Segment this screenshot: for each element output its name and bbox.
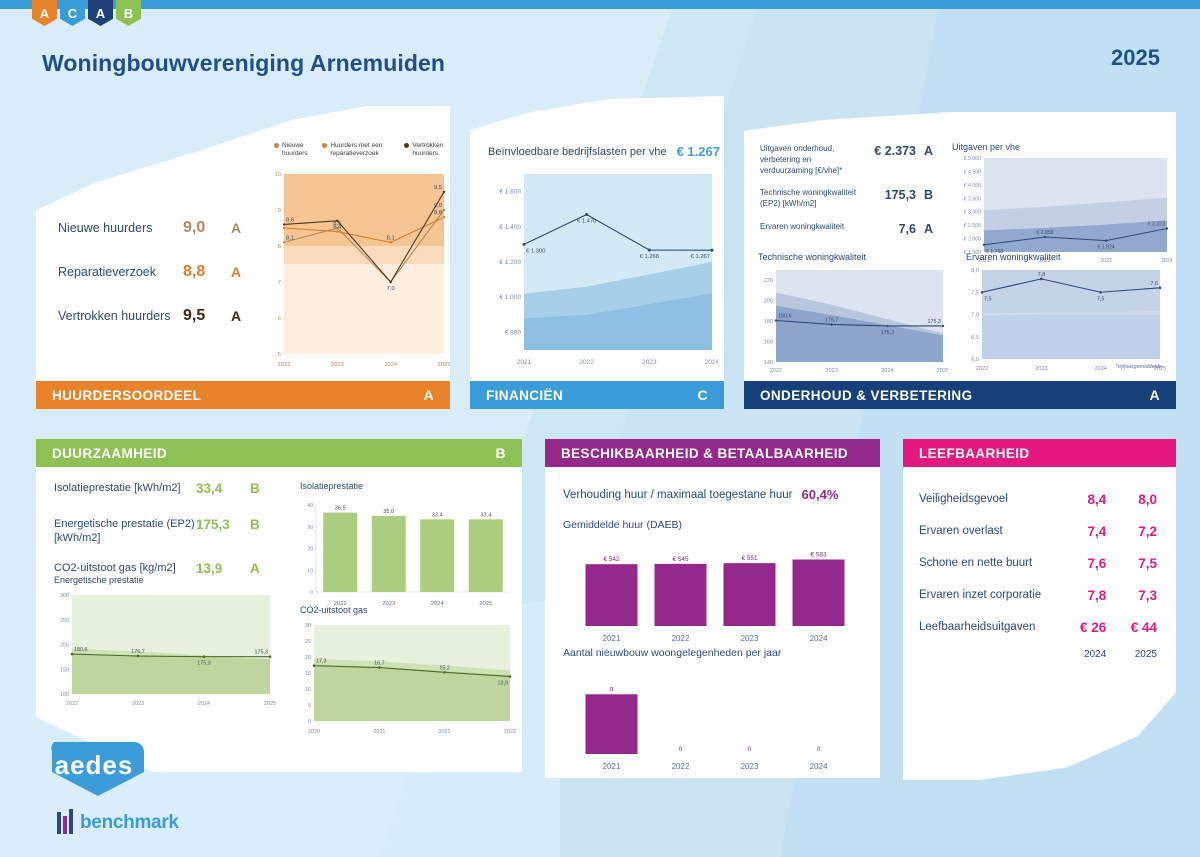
svg-text:2022: 2022 [278,362,291,368]
svg-text:2024: 2024 [431,601,445,607]
svg-text:7,8: 7,8 [1038,272,1046,278]
top-accent-bar [0,0,1200,9]
column-header: 2024 [1056,649,1107,660]
row-label: Ervaren inzet corporatie [919,589,1056,601]
svg-text:8,6: 8,6 [286,217,294,223]
panel-leefbaarheid: Veiligheidsgevoel8,48,0Ervaren overlast7… [903,467,1176,780]
row-label: Schone en nette buurt [919,557,1056,569]
svg-text:100: 100 [60,692,69,698]
svg-text:2021: 2021 [517,359,532,366]
svg-text:2023: 2023 [331,362,344,368]
header-label: LEEFBAARHEID [919,446,1030,461]
svg-text:0: 0 [679,746,683,753]
svg-text:7,5: 7,5 [1097,296,1105,302]
svg-text:0: 0 [310,590,313,596]
svg-text:2022: 2022 [672,634,690,643]
svg-text:180,6: 180,6 [74,647,88,653]
svg-text:2022: 2022 [770,368,782,374]
metric-value: € 2.373 [864,144,916,158]
metric-value: € 1.267 [677,144,720,159]
svg-text:€ 2.058: € 2.058 [1036,230,1053,236]
chart-technische-woningkwaliteit: 1401601802002202022202320242025180,6176,… [752,264,948,374]
metric-row: Vertrokken huurders 9,5 A [58,294,273,338]
panel-onderhoud: Uitgaven onderhoud, verbetering en verdu… [744,112,1176,381]
svg-text:€ 3.500: € 3.500 [964,196,981,202]
svg-text:2021: 2021 [603,634,621,643]
svg-text:€ 1.300: € 1.300 [526,248,545,254]
svg-text:2024: 2024 [705,359,718,366]
svg-text:10: 10 [305,687,311,693]
metric-grade: B [250,481,260,496]
svg-text:8,8: 8,8 [434,210,442,216]
svg-text:7,5: 7,5 [984,296,992,302]
header-leefbaarheid: LEEFBAARHEID [903,439,1176,467]
metric-row: Reparatieverzoek 8,8 A [58,250,273,294]
svg-text:13,9: 13,9 [498,681,509,687]
column-header: 2025 [1106,649,1157,660]
svg-text:176,7: 176,7 [131,649,145,655]
header-beschikbaarheid: BESCHIKBAARHEID & BETAALBAARHEID [545,439,880,467]
footnote: *vijfjaargemiddelde [1116,364,1162,370]
svg-text:25: 25 [305,639,311,645]
header-label: ONDERHOUD & VERBETERING [760,388,972,403]
benchmark-label: benchmark [80,812,179,834]
svg-text:2024: 2024 [881,368,893,374]
metric-label: CO2-uitstoot gas [kg/m2] [54,561,196,575]
metric-value: 8,8 [183,263,231,281]
aedes-logo: aedes [40,738,148,805]
svg-text:30: 30 [307,525,313,531]
svg-text:10: 10 [307,568,313,574]
table-row: Schone en nette buurt7,67,5 [919,547,1157,579]
row-value-2024: 7,8 [1056,588,1107,603]
chart-title-nieuwbouw: Aantal nieuwbouw woongelegenheden per ja… [563,647,781,659]
metric-grade: A [231,264,241,280]
chart-co2-uitstoot-gas: 051015202530202020212022202317,316,715,2… [294,617,516,735]
svg-text:2021: 2021 [373,729,385,735]
svg-text:200: 200 [764,299,773,305]
svg-text:7,0: 7,0 [387,286,395,292]
grade-badge: A [32,0,57,26]
chart-isolatieprestatie: 01020304036,5202235,0202333,4202433,4202… [294,493,516,608]
chart-title-gemiddelde-huur: Gemiddelde huur (DAEB) [563,519,682,531]
svg-text:2023: 2023 [642,359,657,366]
row-value-2025: € 44 [1106,620,1157,635]
legend-dot-icon [404,143,409,148]
svg-text:7,5: 7,5 [971,290,979,296]
svg-text:2023: 2023 [741,762,759,771]
chart-uitgaven-per-vhe: € 1.500€ 2.000€ 2.500€ 3.000€ 3.500€ 4.0… [950,154,1172,264]
svg-text:2025: 2025 [264,701,276,707]
svg-text:0: 0 [817,746,821,753]
svg-text:2022: 2022 [579,359,594,366]
svg-text:0: 0 [748,746,752,753]
svg-text:6: 6 [278,316,281,322]
svg-text:€ 4.000: € 4.000 [964,183,981,189]
metric-value: 175,3 [864,188,916,202]
legend-label: Nieuwe huurders [282,142,312,158]
svg-text:175,3: 175,3 [197,661,211,667]
svg-text:€ 1.268: € 1.268 [640,254,659,260]
svg-text:8,1: 8,1 [286,235,294,241]
svg-text:160: 160 [764,340,773,346]
header-financien: FINANCIËN C [470,381,724,409]
svg-text:€ 800: € 800 [505,329,522,336]
chart-aantal-nieuwbouw: 92021020220202302024 [563,667,863,772]
grade-badges: ACAB [32,0,141,26]
chart-title-uitgaven: Uitgaven per vhe [952,142,1020,152]
row-value-2024: € 26 [1056,620,1107,635]
svg-text:175,3: 175,3 [881,330,895,336]
svg-text:6,0: 6,0 [971,357,979,363]
row-label: Ervaren overlast [919,525,1056,537]
svg-text:€ 2.373: € 2.373 [1148,222,1165,228]
header-huurdersoordeel: HUURDERSOORDEEL A [36,381,450,409]
svg-text:€ 1.400: € 1.400 [499,224,521,231]
svg-text:€ 2.000: € 2.000 [964,237,981,243]
row-value-2025: 7,5 [1106,556,1157,571]
svg-text:300: 300 [60,593,69,599]
metric-grade: B [924,188,933,202]
metric-grade: A [924,222,933,236]
metric-label: Ervaren woningkwaliteit [760,222,864,233]
chart-title-energetisch: Energetische prestatie [54,575,144,585]
svg-text:aedes: aedes [55,750,134,780]
grade-badge: B [116,0,141,26]
table-row: Ervaren overlast7,47,2 [919,515,1157,547]
chart-gemiddelde-huur: € 5422021€ 5452022€ 5512023€ 5832024 [563,539,863,644]
header-label: HUURDERSOORDEEL [52,388,201,403]
svg-text:8,1: 8,1 [387,235,395,241]
metric-value: 9,0 [183,219,231,237]
header-duurzaamheid: DUURZAAMHEID B [36,439,522,467]
svg-text:2024: 2024 [198,701,210,707]
row-value-2024: 7,4 [1056,524,1107,539]
svg-text:2024: 2024 [810,762,828,771]
chart-title-ervaren: Ervaren woningkwaliteit [966,252,1061,262]
svg-text:176,7: 176,7 [825,317,839,323]
row-value-2025: 8,0 [1106,492,1157,507]
row-value-2024: 8,4 [1056,492,1107,507]
svg-text:33,4: 33,4 [432,512,443,518]
svg-text:2025: 2025 [479,601,492,607]
row-value-2024: 7,6 [1056,556,1107,571]
svg-text:150: 150 [60,667,69,673]
column-headers: 20242025 [919,643,1157,665]
header-onderhoud: ONDERHOUD & VERBETERING A [744,381,1176,409]
svg-text:7: 7 [278,280,281,286]
metric-value: 13,9 [196,561,250,576]
panel-financien: Beïnvloedbare bedrijfslasten per vhe € 1… [470,96,724,381]
metric-value: 60,4% [802,487,839,502]
svg-text:8,0: 8,0 [971,268,979,274]
table-row: Leefbaarheidsuitgaven€ 26€ 44 [919,611,1157,643]
svg-text:€ 5.000: € 5.000 [964,156,981,162]
svg-text:€ 1.600: € 1.600 [499,189,521,196]
chart-title-techniek: Technische woningkwaliteit [758,252,866,262]
metric-label: Reparatieverzoek [58,265,183,279]
svg-text:€ 1.267: € 1.267 [691,254,710,260]
svg-text:16,7: 16,7 [374,661,385,667]
row-label: Leefbaarheidsuitgaven [919,621,1056,633]
svg-text:€ 3.000: € 3.000 [964,210,981,216]
legend-dot-icon [322,143,327,148]
svg-text:2023: 2023 [382,601,395,607]
header-grade: B [495,445,506,461]
chart-title-isolatie: Isolatieprestatie [300,481,363,491]
svg-text:2023: 2023 [504,729,516,735]
svg-text:€ 545: € 545 [673,556,689,563]
metric-label: Nieuwe huurders [58,221,183,235]
svg-text:10: 10 [275,172,281,178]
svg-text:2024: 2024 [810,634,828,643]
grade-badge: A [88,0,113,26]
svg-text:5: 5 [308,703,311,709]
svg-text:200: 200 [60,643,69,649]
metric-grade: B [250,517,260,532]
svg-text:175,3: 175,3 [255,650,269,656]
svg-text:2025: 2025 [937,368,948,374]
svg-text:€ 1.200: € 1.200 [499,259,521,266]
metric-label: Verhouding huur / maximaal toegestane hu… [563,489,793,501]
svg-text:180: 180 [764,319,773,325]
svg-text:35,0: 35,0 [383,509,394,515]
table-row: Ervaren inzet corporatie7,87,3 [919,579,1157,611]
svg-text:6,5: 6,5 [971,335,979,341]
metric-value: 175,3 [196,517,250,532]
legend-label: Huurders met een reparatieverzoek [330,142,394,158]
svg-text:8: 8 [278,244,281,250]
svg-text:2020: 2020 [308,729,320,735]
header-label: BESCHIKBAARHEID & BETAALBAARHEID [561,446,848,461]
svg-text:€ 2.500: € 2.500 [964,223,981,229]
svg-text:220: 220 [764,278,773,284]
bars-icon [56,808,76,834]
svg-text:€ 1.924: € 1.924 [1097,245,1114,251]
metric-grade: A [924,144,933,158]
row-value-2025: 7,2 [1106,524,1157,539]
svg-text:250: 250 [60,618,69,624]
chart-title-co2: CO2-uitstoot gas [300,605,368,615]
svg-text:€ 1.000: € 1.000 [499,294,521,301]
metric-row: Nieuwe huurders 9,0 A [58,206,273,250]
metric-label: Beïnvloedbare bedrijfslasten per vhe [488,146,667,158]
chart-energetische-prestatie: 1001502002503002022202320242025180,6176,… [46,587,276,707]
svg-text:9: 9 [610,686,614,693]
header-label: FINANCIËN [486,388,563,403]
svg-text:7,0: 7,0 [971,313,979,319]
svg-text:40: 40 [307,503,313,509]
table-row: Veiligheidsgevoel8,48,0 [919,483,1157,515]
legend-item: Vertrokken huurders [404,142,449,158]
svg-text:2024: 2024 [1094,366,1106,372]
svg-text:2022: 2022 [976,366,988,372]
svg-text:€ 551: € 551 [742,555,758,562]
svg-text:€ 542: € 542 [604,556,620,563]
leefbaarheid-table: Veiligheidsgevoel8,48,0Ervaren overlast7… [919,483,1157,665]
svg-text:2023: 2023 [741,634,759,643]
svg-text:2021: 2021 [603,762,621,771]
svg-text:15,2: 15,2 [439,665,450,671]
svg-text:5: 5 [278,352,281,358]
svg-text:9: 9 [278,208,281,214]
svg-text:180,6: 180,6 [778,313,792,319]
header-grade: A [423,387,434,403]
svg-text:2024: 2024 [384,362,398,368]
svg-text:9,5: 9,5 [434,185,442,191]
chart-huurdersoordeel: 567891020222023202420258,18,57,09,08,48,… [268,168,450,368]
svg-text:2023: 2023 [826,368,838,374]
svg-text:17,3: 17,3 [316,659,327,665]
metric-label: Technische woningkwaliteit (EP2) [kWh/m2… [760,188,864,210]
svg-text:2022: 2022 [66,701,78,707]
svg-text:€ 1.470: € 1.470 [577,218,596,224]
panel-duurzaamheid: Isolatieprestatie [kWh/m2] 33,4 B Energe… [36,467,522,772]
legend-dot-icon [274,143,279,148]
metric-label: Isolatieprestatie [kWh/m2] [54,481,196,495]
svg-text:20: 20 [305,655,311,661]
row-label: Veiligheidsgevoel [919,493,1056,505]
page-title: Woningbouwvereniging Arnemuiden [42,50,445,77]
svg-text:0: 0 [308,719,311,725]
report-year: 2025 [1111,45,1160,71]
panel-beschikbaarheid: Verhouding huur / maximaal toegestane hu… [545,467,880,778]
metric-grade: A [231,308,241,324]
grade-badge: C [60,0,85,26]
metric-label: Uitgaven onderhoud, verbetering en verdu… [760,144,864,176]
svg-text:2025: 2025 [438,362,450,368]
svg-text:33,4: 33,4 [480,512,491,518]
legend-label: Vertrokken huurders [412,142,449,158]
svg-text:€ 583: € 583 [811,552,827,559]
svg-text:140: 140 [764,360,773,366]
metric-grade: A [250,561,260,576]
metric-value: 7,6 [864,222,916,236]
metric-value: 33,4 [196,481,250,496]
svg-text:15: 15 [305,671,311,677]
svg-text:2023: 2023 [1035,366,1047,372]
header-grade: C [697,387,708,403]
svg-text:€ 4.500: € 4.500 [964,169,981,175]
row-value-2025: 7,3 [1106,588,1157,603]
svg-text:7,6: 7,6 [1151,281,1159,287]
svg-text:2023: 2023 [132,701,144,707]
legend-item: Nieuwe huurders [274,142,312,158]
header-label: DUURZAAMHEID [52,446,167,461]
metric-value: 9,5 [183,307,231,325]
svg-text:2022: 2022 [672,762,690,771]
metric-label: Vertrokken huurders [58,309,183,323]
benchmark-logo: benchmark [56,808,179,834]
svg-text:30: 30 [305,623,311,629]
svg-text:20: 20 [307,547,313,553]
svg-text:36,5: 36,5 [335,506,346,512]
metric-label: Energetische prestatie (EP2) [kWh/m2] [54,517,196,546]
metric-grade: A [231,220,241,236]
header-grade: A [1149,387,1160,403]
svg-text:2022: 2022 [439,729,451,735]
chart-financien: € 800€ 1.000€ 1.200€ 1.400€ 1.6002021202… [480,166,718,366]
chart-ervaren-woningkwaliteit: 6,06,57,07,58,020222023202420257,57,87,5… [960,264,1166,372]
legend-item: Huurders met een reparatieverzoek [322,142,394,158]
svg-text:175,3: 175,3 [928,319,942,325]
chart-legend: Nieuwe huurdersHuurders met een reparati… [274,142,449,158]
